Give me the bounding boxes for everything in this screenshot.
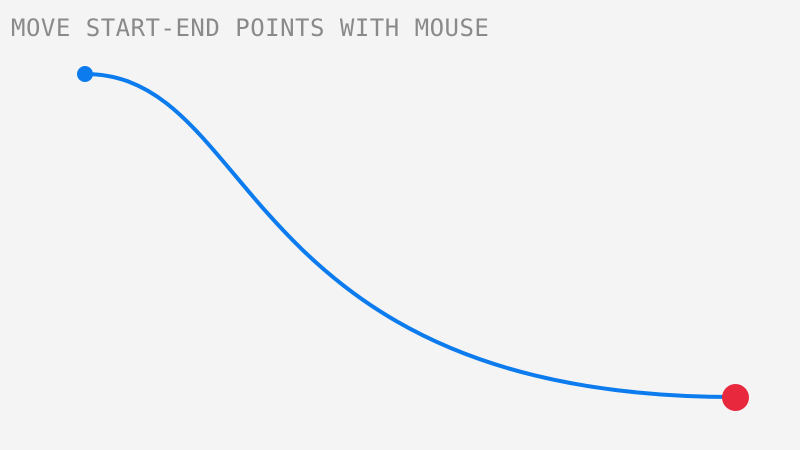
bezier-canvas[interactable] xyxy=(0,0,800,450)
page-title: MOVE START-END POINTS WITH MOUSE xyxy=(11,15,489,41)
start-handle[interactable] xyxy=(77,66,93,82)
canvas-stage[interactable]: MOVE START-END POINTS WITH MOUSE xyxy=(0,0,800,450)
end-handle[interactable] xyxy=(722,384,749,411)
canvas-background xyxy=(0,0,800,450)
